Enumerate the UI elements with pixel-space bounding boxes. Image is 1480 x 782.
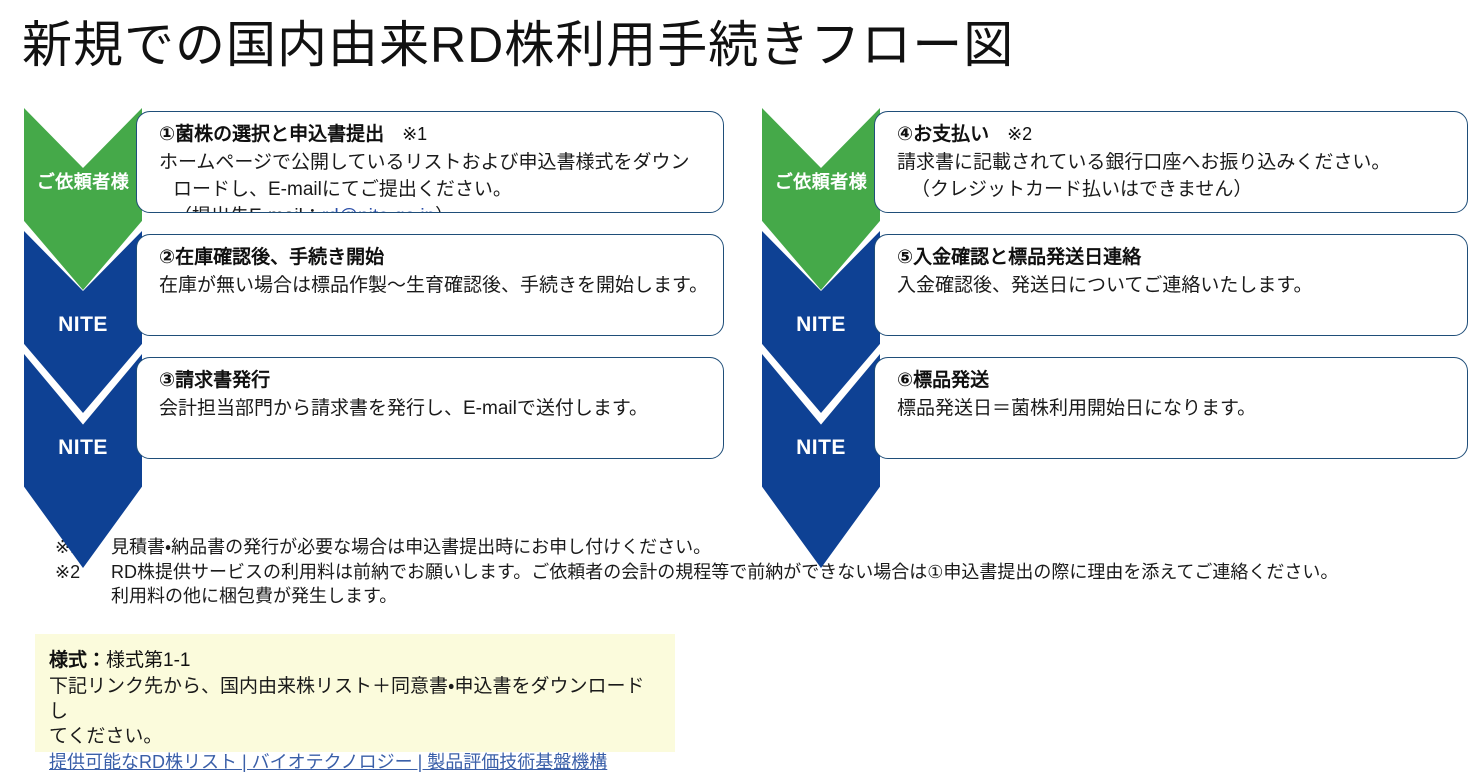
footnote-2: ※2RD株提供サービスの利用料は前納でお願いします。ご依頼者の会計の規程等で前納… — [55, 560, 1455, 585]
actor-label: NITE — [762, 313, 880, 337]
step-heading-text: ③請求書発行 — [159, 370, 270, 391]
form-description-line-1: 下記リンク先から、国内由来株リスト＋同意書・申込書をダウンロードし — [49, 676, 644, 722]
flow-step-4: ご依頼者様 ④お支払い※2 請求書に記載されている銀行口座へお振り込みください。… — [762, 108, 1468, 231]
step-body-line-1: 会計担当部門から請求書を発行し、E-mailで送付します。 — [159, 398, 648, 419]
form-description: 下記リンク先から、国内由来株リスト＋同意書・申込書をダウンロードし てください。 — [49, 674, 659, 749]
step-heading-3: ③請求書発行 — [159, 367, 709, 394]
step-body-line-1: ホームページで公開しているリストおよび申込書様式をダウン — [159, 152, 689, 173]
step-body-line-2: ロードし、E-mailにてご提出ください。 — [159, 176, 709, 203]
step-card-5: ⑤入金確認と標品発送日連絡 入金確認後、発送日についてご連絡いたします。 — [874, 234, 1468, 336]
step-body-line-1: 請求書に記載されている銀行口座へお振り込みください。 — [897, 152, 1390, 173]
step-body-3: 会計担当部門から請求書を発行し、E-mailで送付します。 — [159, 395, 709, 422]
step-card-1: ①菌株の選択と申込書提出※1 ホームページで公開しているリストおよび申込書様式を… — [136, 111, 724, 213]
step-body-6: 標品発送日＝菌株利用開始日になります。 — [897, 395, 1453, 422]
actor-label: ご依頼者様 — [24, 168, 142, 194]
form-description-line-2: てください。 — [49, 726, 162, 747]
flow-step-1: ご依頼者様 ①菌株の選択と申込書提出※1 ホームページで公開しているリストおよび… — [24, 108, 724, 231]
step-card-3: ③請求書発行 会計担当部門から請求書を発行し、E-mailで送付します。 — [136, 357, 724, 459]
footnotes: ※1見積書・納品書の発行が必要な場合は申込書提出時にお申し付けください。 ※2R… — [55, 535, 1455, 609]
actor-label: NITE — [24, 436, 142, 460]
step-body-line-3: （提出先E-mail：rd@nite.go.jp） — [159, 203, 709, 213]
step-heading-text: ②在庫確認後、手続き開始 — [159, 247, 384, 268]
step-body-line-1: 標品発送日＝菌株利用開始日になります。 — [897, 398, 1256, 419]
page-title: 新規での国内由来RD株利用手続きフロー図 — [22, 14, 1014, 76]
step-heading-2: ②在庫確認後、手続き開始 — [159, 244, 709, 271]
step-heading-text: ⑤入金確認と標品発送日連絡 — [897, 247, 1141, 268]
form-download-panel: 様式：様式第1-1 下記リンク先から、国内由来株リスト＋同意書・申込書をダウンロ… — [35, 634, 675, 752]
form-value: 様式第1-1 — [106, 650, 190, 671]
email-link[interactable]: rd@nite.go.jp — [322, 206, 435, 213]
step-heading-6: ⑥標品発送 — [897, 367, 1453, 394]
rd-strain-list-link[interactable]: 提供可能なRD株リスト | バイオテクノロジー | 製品評価技術基盤機構 — [49, 750, 607, 774]
flow-step-3: NITE ③請求書発行 会計担当部門から請求書を発行し、E-mailで送付します… — [24, 354, 724, 477]
step-heading-text: ①菌株の選択と申込書提出 — [159, 124, 384, 145]
step-body-line-1: 入金確認後、発送日についてご連絡いたします。 — [897, 275, 1313, 296]
step-note-ref: ※1 — [402, 124, 427, 144]
step-body-2: 在庫が無い場合は標品作製～生育確認後、手続きを開始します。 — [159, 272, 709, 299]
step-heading-text: ⑥標品発送 — [897, 370, 989, 391]
actor-label: NITE — [24, 313, 142, 337]
step-heading-5: ⑤入金確認と標品発送日連絡 — [897, 244, 1453, 271]
step-body-5: 入金確認後、発送日についてご連絡いたします。 — [897, 272, 1453, 299]
actor-label: ご依頼者様 — [762, 168, 880, 194]
step-body-4: 請求書に記載されている銀行口座へお振り込みください。 （クレジットカード払いはで… — [897, 149, 1453, 203]
footnote-1: ※1見積書・納品書の発行が必要な場合は申込書提出時にお申し付けください。 — [55, 535, 1455, 560]
step-card-6: ⑥標品発送 標品発送日＝菌株利用開始日になります。 — [874, 357, 1468, 459]
step-heading-4: ④お支払い※2 — [897, 121, 1453, 148]
footnote-2-continuation: 利用料の他に梱包費が発生します。 — [55, 584, 1455, 609]
flow-step-5: NITE ⑤入金確認と標品発送日連絡 入金確認後、発送日についてご連絡いたします… — [762, 231, 1468, 354]
form-label: 様式： — [49, 650, 106, 671]
step-card-2: ②在庫確認後、手続き開始 在庫が無い場合は標品作製～生育確認後、手続きを開始しま… — [136, 234, 724, 336]
step-note-ref: ※2 — [1007, 124, 1032, 144]
step-heading-1: ①菌株の選択と申込書提出※1 — [159, 121, 709, 148]
step-body-1: ホームページで公開しているリストおよび申込書様式をダウン ロードし、E-mail… — [159, 149, 709, 213]
flow-step-2: NITE ②在庫確認後、手続き開始 在庫が無い場合は標品作製～生育確認後、手続き… — [24, 231, 724, 354]
step-card-4: ④お支払い※2 請求書に記載されている銀行口座へお振り込みください。 （クレジッ… — [874, 111, 1468, 213]
email-label-prefix: （提出先E-mail： — [173, 206, 322, 213]
email-label-suffix: ） — [435, 206, 454, 213]
flow-column-right: ご依頼者様 ④お支払い※2 請求書に記載されている銀行口座へお振り込みください。… — [762, 108, 1468, 477]
footnote-text: 見積書・納品書の発行が必要な場合は申込書提出時にお申し付けください。 — [111, 537, 711, 557]
step-heading-text: ④お支払い — [897, 124, 989, 145]
step-body-line-1: 在庫が無い場合は標品作製～生育確認後、手続きを開始します。 — [159, 275, 708, 296]
form-title: 様式：様式第1-1 — [49, 648, 659, 674]
actor-label: NITE — [762, 436, 880, 460]
footnote-text: RD株提供サービスの利用料は前納でお願いします。ご依頼者の会計の規程等で前納がで… — [111, 562, 1338, 582]
flow-column-left: ご依頼者様 ①菌株の選択と申込書提出※1 ホームページで公開しているリストおよび… — [24, 108, 724, 477]
flow-step-6: NITE ⑥標品発送 標品発送日＝菌株利用開始日になります。 — [762, 354, 1468, 477]
step-body-line-2: （クレジットカード払いはできません） — [897, 176, 1453, 203]
